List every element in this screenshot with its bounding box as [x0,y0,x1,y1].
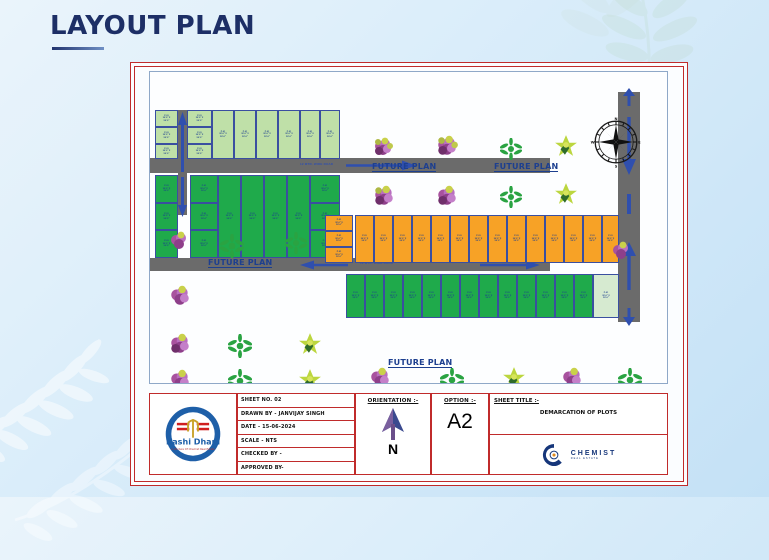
plot-dark-6[interactable]: P-01 30'-0" X 50'-0" [190,230,218,258]
plot-orange-7[interactable]: P-01 30'-0" X 50'-0" [469,215,488,263]
option-heading: OPTION :- [444,398,476,404]
plot-light-4[interactable]: P-01 30'-0" X 50'-0" [187,110,212,127]
plot-light-12[interactable]: P-01 30'-0" X 50'-0" [320,110,340,159]
tree-palm-icon [220,234,244,258]
tree-flowering-icon [435,134,459,158]
plot-label: P-01 30'-0" X 50'-0" [188,132,211,140]
option-value: A2 [447,410,473,434]
tree-palm-icon [440,368,464,384]
logo-tagline: A Venture Of Chemist Real Estate [171,447,215,451]
kashi-dham-logo: Kashi Dham A Venture Of Chemist Real Est… [162,403,224,465]
tree-palm-icon [500,186,522,208]
plot-label: P-01 30'-0" X 50'-0" [584,235,601,243]
plot-label: P-01 30'-0" X 50'-0" [301,131,319,139]
plot-dark-row2-2[interactable]: P-01 30'-0" X 50'-0" [365,274,384,318]
plot-light-9[interactable]: P-01 30'-0" X 50'-0" [256,110,278,159]
plot-label: P-01 30'-0" X 50'-0" [156,115,177,123]
arrow-road-vertical-right-top [622,88,636,106]
tree-palm-icon [618,368,642,384]
plot-label: P-01 30'-0" X 50'-0" [565,235,582,243]
info-row-sheet-no: SHEET NO. 02 [238,394,354,408]
plot-light-10[interactable]: P-01 30'-0" X 50'-0" [278,110,300,159]
info-row-approved-by: APPROVED BY- [238,462,354,475]
plot-dark-row2-12[interactable]: P-01 30'-0" X 50'-0" [555,274,574,318]
sheet-title-cell: SHEET TITLE :- DEMARCATION OF PLOTS [489,393,668,435]
logo-name: Kashi Dham [166,438,220,447]
tree-star-icon [298,368,322,384]
plot-label: P-01 30'-0" X 50'-0" [257,131,277,139]
plot-orange-2[interactable]: P-01 30'-0" X 50'-0" [374,215,393,263]
brand-logo-cell: CHEMIST REAL ESTATE [489,435,668,475]
plot-orange-9[interactable]: P-01 30'-0" X 50'-0" [507,215,526,263]
plot-label: P-01 30'-0" X 50'-0" [556,292,573,300]
title-block: Kashi Dham A Venture Of Chemist Real Est… [149,393,668,475]
plot-dark-11[interactable]: P-01 30'-0" X 50'-0" [310,175,340,203]
option-cell: OPTION :- A2 [431,393,489,475]
plot-dark-row2-10[interactable]: P-01 30'-0" X 50'-0" [517,274,536,318]
plot-dark-9[interactable]: P-01 30'-0" X 50'-0" [264,175,287,258]
tree-flowering-icon [168,368,192,384]
plot-orange-stack-3[interactable]: P-01 30'-0" X 50'-0" [325,247,353,263]
plot-label: P-01 30'-0" X 50'-0" [527,235,544,243]
plot-label: P-01 30'-0" X 50'-0" [188,115,211,123]
plot-label: P-01 30'-0" X 50'-0" [366,292,383,300]
plot-label: P-01 30'-0" X 50'-0" [242,213,263,221]
plot-label: P-01 30'-0" X 50'-0" [156,185,177,193]
plot-label: P-01 30'-0" X 50'-0" [537,292,554,300]
page-title: LAYOUT PLAN [50,11,255,41]
tree-star-icon [554,182,578,206]
plot-dark-4[interactable]: P-01 30'-0" X 50'-0" [190,175,218,203]
chemist-logo-icon [541,442,567,468]
sheet-info-cell: SHEET NO. 02 DRAWN BY - JANVIJAY SINGH D… [237,393,355,475]
plot-label: P-01 30'-0" X 50'-0" [575,292,592,300]
plot-label: P-01 30'-0" X 50'-0" [279,131,299,139]
plot-orange-11[interactable]: P-01 30'-0" X 50'-0" [545,215,564,263]
layout-drawing-area[interactable]: 12 MTR. WIDE ROAD 12 MTR. WIDE ROAD [149,71,668,384]
tree-flowering-icon [560,366,584,384]
info-row-scale: SCALE - NTS [238,435,354,449]
brand-name: CHEMIST [571,450,617,457]
info-row-date: DATE - 15-06-2024 [238,421,354,435]
tree-flowering-icon [610,240,632,262]
plot-dark-row2-9[interactable]: P-01 30'-0" X 50'-0" [498,274,517,318]
plot-label: P-01 30'-0" X 50'-0" [375,235,392,243]
plot-dark-row2-6[interactable]: P-01 30'-0" X 50'-0" [441,274,460,318]
sheet-title-column: SHEET TITLE :- DEMARCATION OF PLOTS CHEM… [489,393,668,475]
plot-dark-row2-3[interactable]: P-01 30'-0" X 50'-0" [384,274,403,318]
road-label-upper: 12 MTR. WIDE ROAD [300,162,333,166]
tree-flowering-icon [435,184,459,208]
plot-label: P-01 30'-0" X 50'-0" [265,213,286,221]
plot-orange-6[interactable]: P-01 30'-0" X 50'-0" [450,215,469,263]
plot-label: P-01 30'-0" X 50'-0" [432,235,449,243]
tree-flowering-icon [168,284,192,308]
arrow-road-vertical-right-bottom [622,308,636,326]
plot-label: P-01 30'-0" X 50'-0" [546,235,563,243]
tree-palm-icon [285,232,307,254]
plot-pale-corner[interactable]: P-01 30'-0" X 50'-0" [593,274,619,318]
plot-label: P-01 30'-0" X 50'-0" [480,292,497,300]
plot-label: P-01 30'-0" X 50'-0" [451,235,468,243]
plot-label: P-01 30'-0" X 50'-0" [191,213,217,221]
plot-light-8[interactable]: P-01 30'-0" X 50'-0" [234,110,256,159]
plot-orange-4[interactable]: P-01 30'-0" X 50'-0" [412,215,431,263]
plot-label: P-01 30'-0" X 50'-0" [347,292,364,300]
plot-orange-10[interactable]: P-01 30'-0" X 50'-0" [526,215,545,263]
sheet-frame: 12 MTR. WIDE ROAD 12 MTR. WIDE ROAD [130,62,688,486]
compass-rose-icon: N S E W [590,116,642,168]
plot-light-11[interactable]: P-01 30'-0" X 50'-0" [300,110,320,159]
tree-flowering-icon [372,136,394,158]
plot-dark-2[interactable]: P-01 30'-0" X 50'-0" [155,203,178,230]
future-plan-label-3: FUTURE PLAN [208,258,272,268]
plot-label: P-01 30'-0" X 50'-0" [156,213,177,221]
compass-east-label: E [638,141,641,145]
north-arrow-icon [377,406,409,442]
plot-label: P-01 30'-0" X 50'-0" [489,235,506,243]
future-plan-label-2: FUTURE PLAN [494,162,558,172]
future-plan-label-1: FUTURE PLAN [372,162,436,172]
plot-orange-13[interactable]: P-01 30'-0" X 50'-0" [583,215,602,263]
compass-south-label: S [615,164,618,168]
plot-label: P-01 30'-0" X 50'-0" [326,235,352,243]
plot-dark-8[interactable]: P-01 30'-0" X 50'-0" [241,175,264,258]
plot-label: P-01 30'-0" X 50'-0" [470,235,487,243]
plot-label: P-01 30'-0" X 50'-0" [413,235,430,243]
plot-label: P-01 30'-0" X 50'-0" [311,185,339,193]
developer-logo-cell: Kashi Dham A Venture Of Chemist Real Est… [149,393,237,475]
plot-label: P-01 30'-0" X 50'-0" [423,292,440,300]
tree-flowering-icon [168,230,190,252]
plot-label: P-01 30'-0" X 50'-0" [404,292,421,300]
plot-label: P-01 30'-0" X 50'-0" [499,292,516,300]
plot-label: P-01 30'-0" X 50'-0" [326,219,352,227]
plot-label: P-01 30'-0" X 50'-0" [594,292,618,300]
orientation-heading: ORIENTATION :- [368,398,419,404]
plot-light-2[interactable]: P-01 30'-0" X 50'-0" [155,127,178,144]
plot-orange-stack-2[interactable]: P-01 30'-0" X 50'-0" [325,231,353,247]
plot-dark-1[interactable]: P-01 30'-0" X 50'-0" [155,175,178,203]
sheet-title-heading: SHEET TITLE :- [494,398,539,404]
plot-orange-1[interactable]: P-01 30'-0" X 50'-0" [355,215,374,263]
plot-label: P-01 30'-0" X 50'-0" [191,240,217,248]
plot-orange-3[interactable]: P-01 30'-0" X 50'-0" [393,215,412,263]
tree-flowering-icon [368,366,392,384]
compass-north-label: N [614,117,617,121]
plot-orange-12[interactable]: P-01 30'-0" X 50'-0" [564,215,583,263]
plot-dark-row2-4[interactable]: P-01 30'-0" X 50'-0" [403,274,422,318]
plot-light-3[interactable]: P-01 30'-0" X 50'-0" [155,144,178,159]
orientation-cell: ORIENTATION :- N [355,393,431,475]
tree-palm-icon [228,369,252,384]
plot-label: P-01 30'-0" X 50'-0" [356,235,373,243]
plot-orange-5[interactable]: P-01 30'-0" X 50'-0" [431,215,450,263]
north-letter: N [388,442,398,456]
plot-label: P-01 30'-0" X 50'-0" [219,213,240,221]
info-row-checked-by: CHECKED BY - [238,448,354,462]
info-row-drawn-by: DRAWN BY - JANVIJAY SINGH [238,408,354,422]
plot-label: P-01 30'-0" X 50'-0" [188,148,211,156]
plot-orange-stack-1[interactable]: P-01 30'-0" X 50'-0" [325,215,353,231]
tree-flowering-icon [168,332,192,356]
plot-label: P-01 30'-0" X 50'-0" [321,131,339,139]
tree-star-icon [554,134,578,158]
future-plan-label-4: FUTURE PLAN [388,358,452,368]
leaf-watermark-top-right-2 [549,0,669,65]
plot-label: P-01 30'-0" X 50'-0" [191,185,217,193]
plot-label: P-01 30'-0" X 50'-0" [508,235,525,243]
arrow-road-vertical-left-lower [178,177,187,217]
plot-light-5[interactable]: P-01 30'-0" X 50'-0" [187,127,212,144]
plot-dark-row2-8[interactable]: P-01 30'-0" X 50'-0" [479,274,498,318]
tree-star-icon [298,332,322,356]
plot-label: P-01 30'-0" X 50'-0" [288,213,309,221]
plot-dark-row2-13[interactable]: P-01 30'-0" X 50'-0" [574,274,593,318]
tree-flowering-icon [372,184,396,208]
plot-label: P-01 30'-0" X 50'-0" [326,251,352,259]
plot-label: P-01 30'-0" X 50'-0" [461,292,478,300]
brand-tagline: REAL ESTATE [571,457,617,460]
tree-palm-icon [228,334,252,358]
plot-label: P-01 30'-0" X 50'-0" [235,131,255,139]
plot-dark-row2-11[interactable]: P-01 30'-0" X 50'-0" [536,274,555,318]
plot-label: P-01 30'-0" X 50'-0" [156,148,177,156]
sheet-title-value: DEMARCATION OF PLOTS [490,410,667,416]
arrow-road-vertical-left [178,112,187,172]
plot-orange-8[interactable]: P-01 30'-0" X 50'-0" [488,215,507,263]
plot-dark-row2-5[interactable]: P-01 30'-0" X 50'-0" [422,274,441,318]
plot-light-6[interactable]: P-01 30'-0" X 50'-0" [187,144,212,159]
plot-label: P-01 30'-0" X 50'-0" [394,235,411,243]
plot-label: P-01 30'-0" X 50'-0" [385,292,402,300]
compass-west-label: W [591,141,595,145]
plot-label: P-01 30'-0" X 50'-0" [442,292,459,300]
plot-label: P-01 30'-0" X 50'-0" [156,132,177,140]
tree-palm-icon [500,138,522,160]
plot-dark-row2-1[interactable]: P-01 30'-0" X 50'-0" [346,274,365,318]
plot-label: P-01 30'-0" X 50'-0" [213,131,233,139]
plot-light-1[interactable]: P-01 30'-0" X 50'-0" [155,110,178,127]
plot-label: P-01 30'-0" X 50'-0" [518,292,535,300]
plot-dark-row2-7[interactable]: P-01 30'-0" X 50'-0" [460,274,479,318]
plot-light-7[interactable]: P-01 30'-0" X 50'-0" [212,110,234,159]
plot-dark-5[interactable]: P-01 30'-0" X 50'-0" [190,203,218,230]
tree-star-icon [502,366,526,384]
arrow-road-vertical-right-divider [624,194,634,214]
title-underline-accent [52,47,104,50]
